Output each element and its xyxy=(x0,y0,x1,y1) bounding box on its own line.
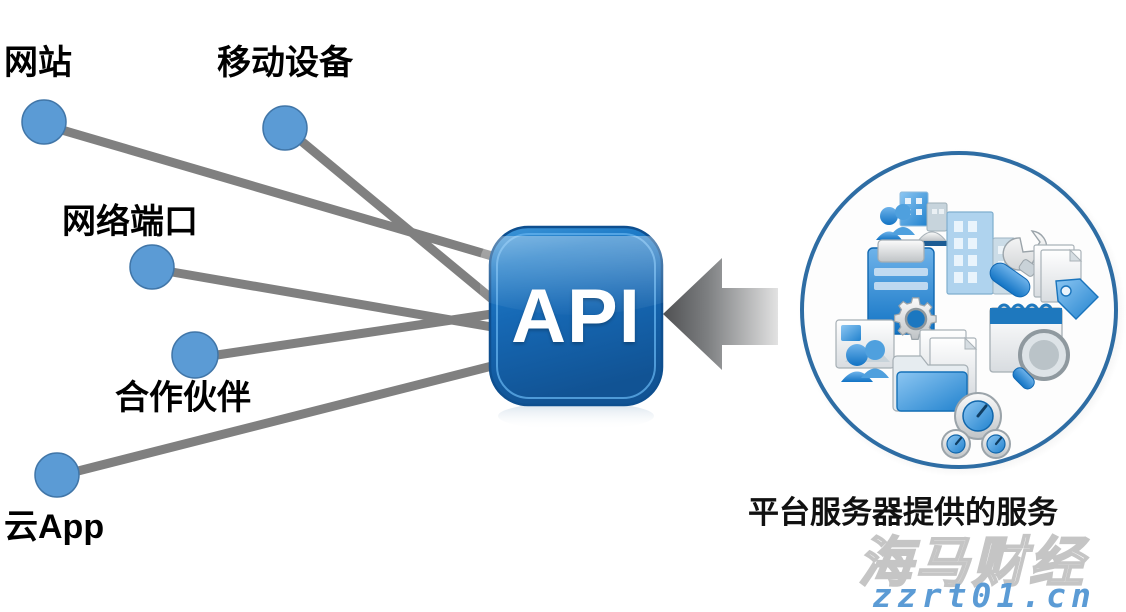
node-network-port xyxy=(130,245,174,289)
node-cloud-app xyxy=(35,453,79,497)
connector-partner xyxy=(217,314,492,355)
node-website xyxy=(22,100,66,144)
node-mobile-device xyxy=(263,106,307,150)
watermark-url: zzrt01.cn xyxy=(872,576,1096,612)
connector-lines xyxy=(62,130,492,471)
connector-mobile xyxy=(300,140,492,299)
node-label-mobile-device: 移动设备 xyxy=(217,44,353,82)
node-partner xyxy=(172,332,218,378)
watermark: 海马财经 zzrt01.cn xyxy=(846,518,1126,612)
services-circle xyxy=(798,149,1126,477)
node-label-partner: 合作伙伴 xyxy=(115,379,251,417)
left-arrow-icon xyxy=(663,258,778,370)
node-label-network-port: 网络端口 xyxy=(62,203,198,241)
api-box xyxy=(480,227,672,405)
diagram-canvas: API 网站 移动设备 网络端口 合作伙伴 云App 平台服务器提供的服务 海马… xyxy=(0,0,1126,612)
node-label-website: 网站 xyxy=(4,44,72,82)
node-label-cloud-app: 云App xyxy=(4,508,104,546)
